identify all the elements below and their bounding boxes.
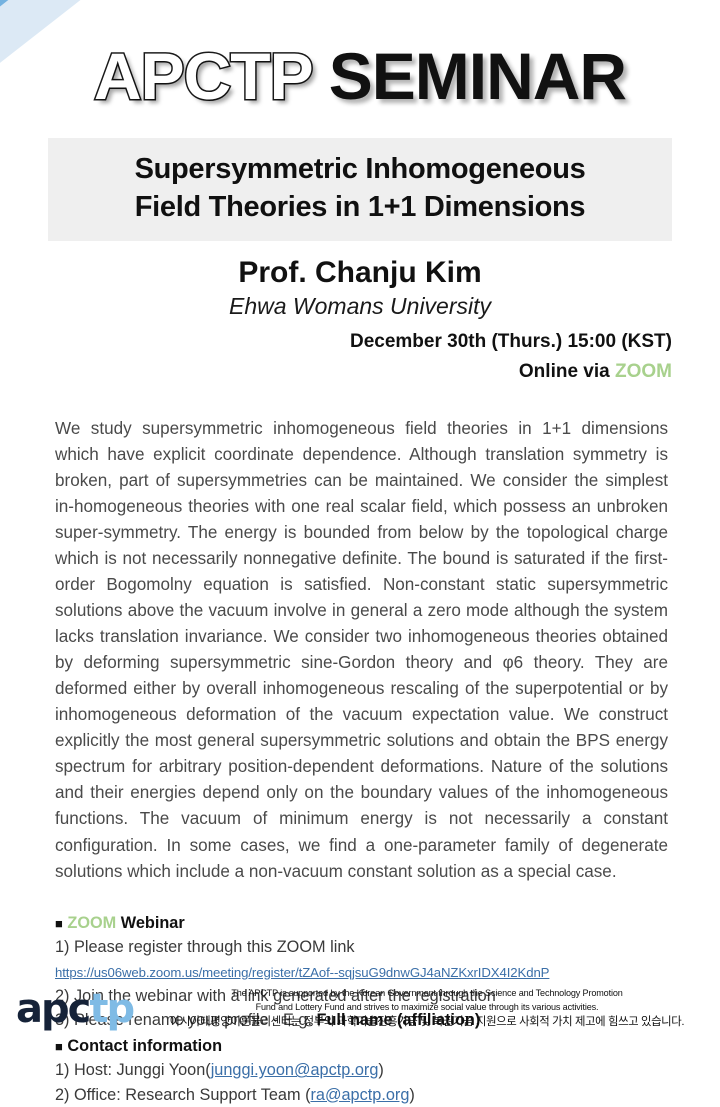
webinar-step-1: 1) Please register through this ZOOM lin… xyxy=(55,935,720,959)
poster-footer: apctp The APCTP is supported by the Kore… xyxy=(0,978,720,1040)
speaker-block: Prof. Chanju Kim Ehwa Womans University xyxy=(0,255,720,322)
webinar-heading-rest: Webinar xyxy=(116,914,184,932)
footer-line-korean: 아시아태평양이론물리센터는 정부의 과학기술진흥기금 및 복권기금 지원으로 사… xyxy=(142,1014,712,1032)
brand-word: APCTP xyxy=(94,39,312,113)
event-schedule-block: December 30th (Thurs.) 15:00 (KST) Onlin… xyxy=(0,328,720,385)
contact-host-suffix: ) xyxy=(378,1061,383,1079)
webinar-heading: ■ ZOOM Webinar xyxy=(55,911,720,935)
logo-text-light: tp xyxy=(89,986,133,1032)
host-email-link[interactable]: junggi.yoon@apctp.org xyxy=(211,1061,379,1079)
seminar-word: SEMINAR xyxy=(311,39,626,113)
online-via-label: Online via xyxy=(519,361,615,382)
contact-host-line: 1) Host: Junggi Yoon(junggi.yoon@apctp.o… xyxy=(55,1058,720,1082)
contact-office-line: 2) Office: Research Support Team (ra@apc… xyxy=(55,1083,720,1107)
footer-line-1: The APCTP is supported by the Korean Gov… xyxy=(142,986,712,1000)
talk-title-line-1: Supersymmetric Inhomogeneous xyxy=(58,150,662,188)
speaker-affiliation: Ehwa Womans University xyxy=(0,292,720,322)
abstract-text: We study supersymmetric inhomogeneous fi… xyxy=(55,416,668,885)
office-email-link[interactable]: ra@apctp.org xyxy=(311,1086,410,1104)
footer-support-text: The APCTP is supported by the Korean Gov… xyxy=(142,986,720,1032)
logo-text-dark: apc xyxy=(16,986,89,1032)
seminar-header-title: APCTP SEMINAR xyxy=(94,43,626,109)
webinar-zoom-label: ZOOM xyxy=(67,914,116,932)
talk-title-line-2: Field Theories in 1+1 Dimensions xyxy=(58,188,662,226)
event-datetime: December 30th (Thurs.) 15:00 (KST) xyxy=(0,328,672,356)
speaker-name: Prof. Chanju Kim xyxy=(0,255,720,291)
apctp-logo: apctp xyxy=(16,989,142,1029)
poster-content: APCTP SEMINAR Supersymmetric Inhomogeneo… xyxy=(0,0,720,1040)
zoom-platform-label: ZOOM xyxy=(615,361,672,382)
contact-office-prefix: 2) Office: Research Support Team ( xyxy=(55,1086,311,1104)
talk-title-band: Supersymmetric Inhomogeneous Field Theor… xyxy=(48,138,672,241)
square-bullet-icon-contact: ■ xyxy=(55,1039,63,1054)
footer-line-2: Fund and Lottery Fund and strives to max… xyxy=(142,1000,712,1014)
poster-header: APCTP SEMINAR xyxy=(0,0,720,138)
event-location: Online via ZOOM xyxy=(0,358,672,386)
contact-office-suffix: ) xyxy=(409,1086,414,1104)
square-bullet-icon: ■ xyxy=(55,916,63,931)
contact-host-prefix: 1) Host: Junggi Yoon( xyxy=(55,1061,211,1079)
